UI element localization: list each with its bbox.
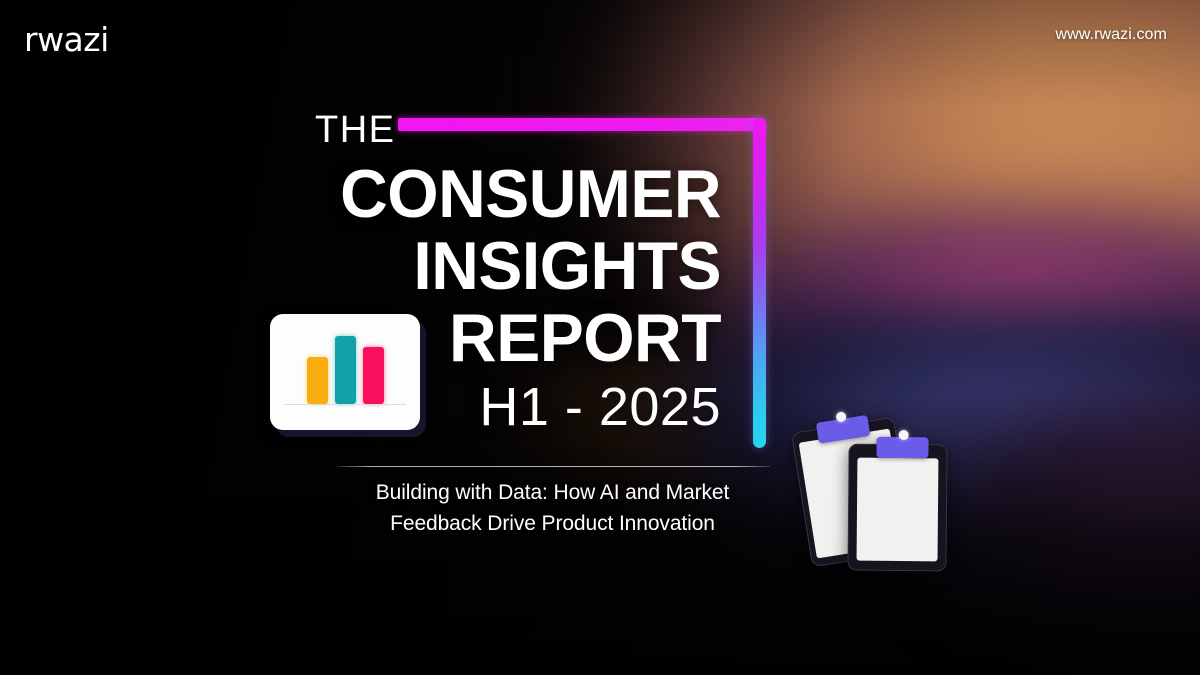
clipboard-front-icon (847, 444, 947, 572)
bar-chart-icon (270, 314, 420, 430)
rwazi-logo: rwazi (24, 20, 109, 59)
title-line-1: CONSUMER (216, 158, 721, 230)
report-cover-slide: rwazi www.rwazi.com THE CONSUMER INSIGHT… (0, 0, 1200, 675)
title-line-2: INSIGHTS (216, 230, 721, 302)
subtitle: Building with Data: How AI and Market Fe… (300, 477, 805, 539)
clipboards-illustration (790, 408, 970, 593)
bar-chart-baseline (284, 404, 406, 405)
bar-amber-icon (307, 357, 328, 404)
subtitle-divider (337, 466, 770, 467)
website-url: www.rwazi.com (1055, 26, 1167, 44)
subtitle-line-2: Feedback Drive Product Innovation (300, 508, 805, 539)
title-eyebrow: THE (315, 109, 396, 152)
clipboard-front-paper (857, 458, 939, 562)
bar-chart-bars (270, 314, 420, 430)
bar-teal-icon (335, 336, 356, 404)
subtitle-line-1: Building with Data: How AI and Market (300, 477, 805, 508)
bar-pink-icon (363, 347, 384, 404)
clipboard-front-clip-dot (899, 430, 909, 440)
